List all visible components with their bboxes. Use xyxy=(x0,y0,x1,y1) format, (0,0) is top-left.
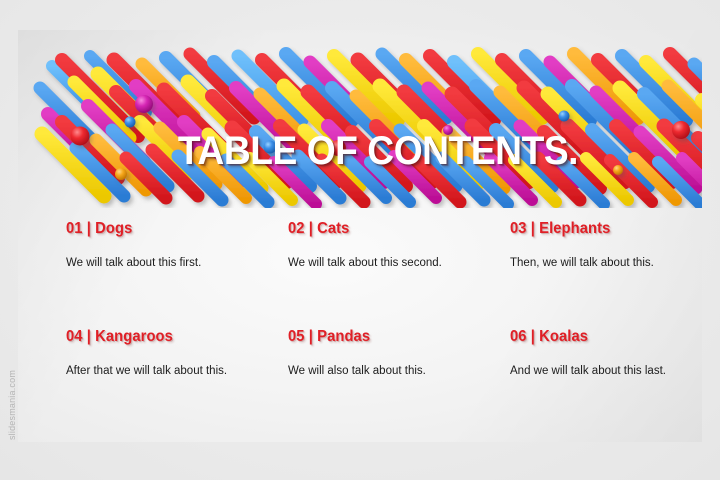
presentation-canvas: TABLE OF CONTENTS. 01 | Dogs We will tal… xyxy=(0,0,720,480)
watermark-slidesmania: slidesmania.com xyxy=(7,360,17,450)
stripe-pattern-graphic xyxy=(18,30,702,208)
toc-item-04-description: After that we will talk about this. xyxy=(66,363,266,380)
toc-item-01[interactable]: 01 | Dogs We will talk about this first. xyxy=(66,220,288,272)
toc-item-03-heading: 03 | Elephants xyxy=(510,220,696,238)
toc-item-06-heading: 06 | Koalas xyxy=(510,328,696,346)
slide-table-of-contents: TABLE OF CONTENTS. 01 | Dogs We will tal… xyxy=(18,30,702,442)
toc-item-05-description: We will also talk about this. xyxy=(288,363,488,380)
toc-item-01-description: We will talk about this first. xyxy=(66,255,244,272)
toc-item-04-heading: 04 | Kangaroos xyxy=(66,328,277,346)
decorative-stripe-banner xyxy=(18,30,702,208)
toc-item-02-heading: 02 | Cats xyxy=(288,220,499,238)
toc-item-04[interactable]: 04 | Kangaroos After that we will talk a… xyxy=(66,328,288,380)
toc-item-03-description: Then, we will talk about this. xyxy=(510,255,688,272)
page-title: TABLE OF CONTENTS. xyxy=(43,129,702,173)
toc-item-01-heading: 01 | Dogs xyxy=(66,220,277,238)
toc-item-06-description: And we will talk about this last. xyxy=(510,363,702,380)
table-of-contents-grid: 01 | Dogs We will talk about this first.… xyxy=(66,220,702,380)
toc-item-02-description: We will talk about this second. xyxy=(288,255,466,272)
toc-item-03[interactable]: 03 | Elephants Then, we will talk about … xyxy=(510,220,702,272)
toc-item-06[interactable]: 06 | Koalas And we will talk about this … xyxy=(510,328,702,380)
toc-item-02[interactable]: 02 | Cats We will talk about this second… xyxy=(288,220,510,272)
toc-item-05[interactable]: 05 | Pandas We will also talk about this… xyxy=(288,328,510,380)
toc-item-05-heading: 05 | Pandas xyxy=(288,328,499,346)
